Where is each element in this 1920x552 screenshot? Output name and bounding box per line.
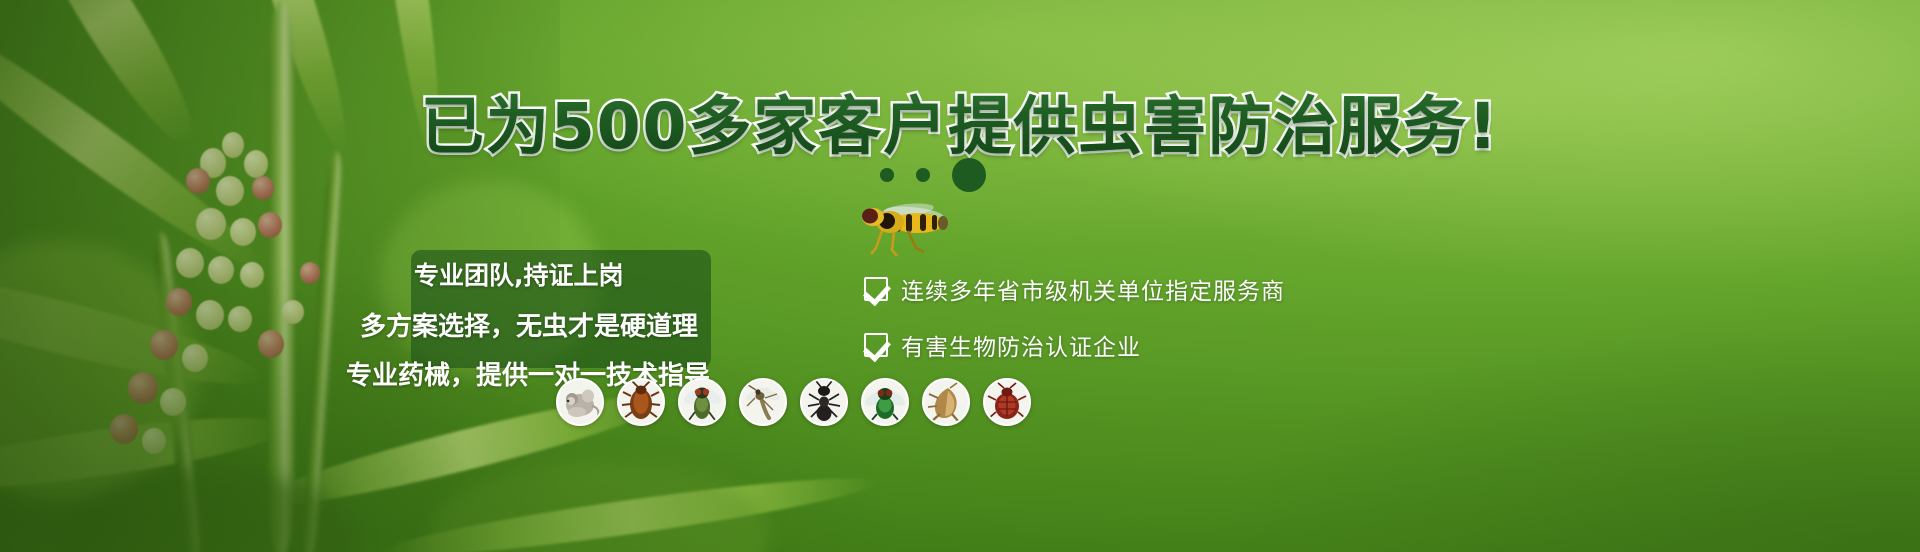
pest-control-banner: 已为500多家客户提供虫害防治服务! 已为500多家客户提供虫害防治服务! 专业… — [0, 0, 1920, 552]
cockroach-icon[interactable] — [617, 378, 665, 426]
mosquito-icon[interactable] — [739, 378, 787, 426]
dot-small-icon — [880, 168, 894, 182]
checkbox-checked-icon — [864, 277, 888, 301]
certifications-list: 连续多年省市级机关单位指定服务商 有害生物防治认证企业 — [864, 272, 1285, 362]
housefly-icon[interactable] — [678, 378, 726, 426]
dot-small-icon — [916, 168, 930, 182]
list-item-label: 连续多年省市级机关单位指定服务商 — [901, 272, 1285, 306]
list-item: 有害生物防治认证企业 — [864, 328, 1285, 362]
blowfly-icon[interactable] — [861, 378, 909, 426]
bedbug-icon[interactable] — [983, 378, 1031, 426]
hoverfly-insect-icon — [840, 196, 970, 266]
list-item-label: 有害生物防治认证企业 — [901, 328, 1141, 362]
feature-line-2: 多方案选择，无虫才是硬道理 — [360, 306, 698, 343]
checkbox-checked-icon — [864, 333, 888, 357]
mouse-icon[interactable] — [556, 378, 604, 426]
ant-icon[interactable] — [800, 378, 848, 426]
feature-line-1: 专业团队,持证上岗 — [414, 256, 624, 292]
flea-icon[interactable] — [922, 378, 970, 426]
pest-icon-row — [556, 378, 1031, 426]
page-title: 已为500多家客户提供虫害防治服务! — [0, 76, 1920, 167]
decorative-dots — [880, 158, 986, 192]
list-item: 连续多年省市级机关单位指定服务商 — [864, 272, 1285, 306]
dot-large-icon — [952, 158, 986, 192]
